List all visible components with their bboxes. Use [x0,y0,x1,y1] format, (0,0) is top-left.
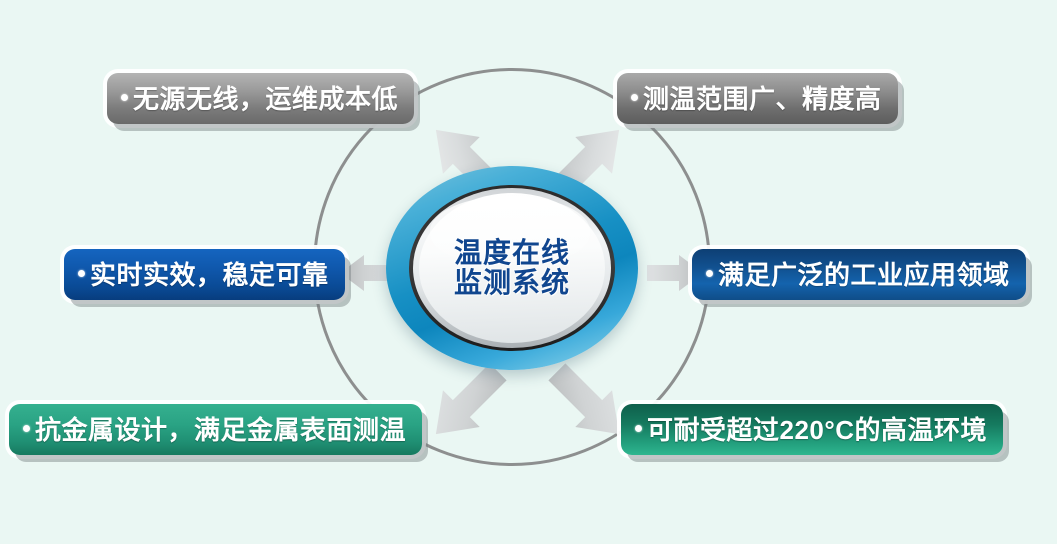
hub-face: 温度在线 监测系统 [419,193,605,343]
feature-label: 满足广泛的工业应用领域 [718,255,1010,292]
feature-label: 可耐受超过220°C的高温环境 [647,410,987,447]
bullet-dot-icon [23,425,30,432]
diagram-canvas: 温度在线 监测系统 无源无线，运维成本低 测温范围广、精度高 实时实效，稳定可靠… [0,0,1057,544]
feature-chip-top-left[interactable]: 无源无线，运维成本低 [107,73,414,124]
feature-chip-bottom-left[interactable]: 抗金属设计，满足金属表面测温 [9,404,422,455]
feature-label: 抗金属设计，满足金属表面测温 [35,410,406,447]
hub-title: 温度在线 监测系统 [454,238,570,298]
feature-label: 实时实效，稳定可靠 [90,255,329,292]
bullet-dot-icon [635,425,642,432]
bullet-dot-icon [631,94,638,101]
bullet-dot-icon [706,270,713,277]
feature-label: 无源无线，运维成本低 [133,79,398,116]
feature-label: 测温范围广、精度高 [643,79,882,116]
bullet-dot-icon [78,270,85,277]
feature-chip-top-right[interactable]: 测温范围广、精度高 [617,73,898,124]
feature-chip-middle-right[interactable]: 满足广泛的工业应用领域 [692,249,1026,300]
feature-chip-bottom-right[interactable]: 可耐受超过220°C的高温环境 [621,404,1003,455]
central-hub: 温度在线 监测系统 [386,166,638,370]
feature-chip-middle-left[interactable]: 实时实效，稳定可靠 [64,249,345,300]
bullet-dot-icon [121,94,128,101]
